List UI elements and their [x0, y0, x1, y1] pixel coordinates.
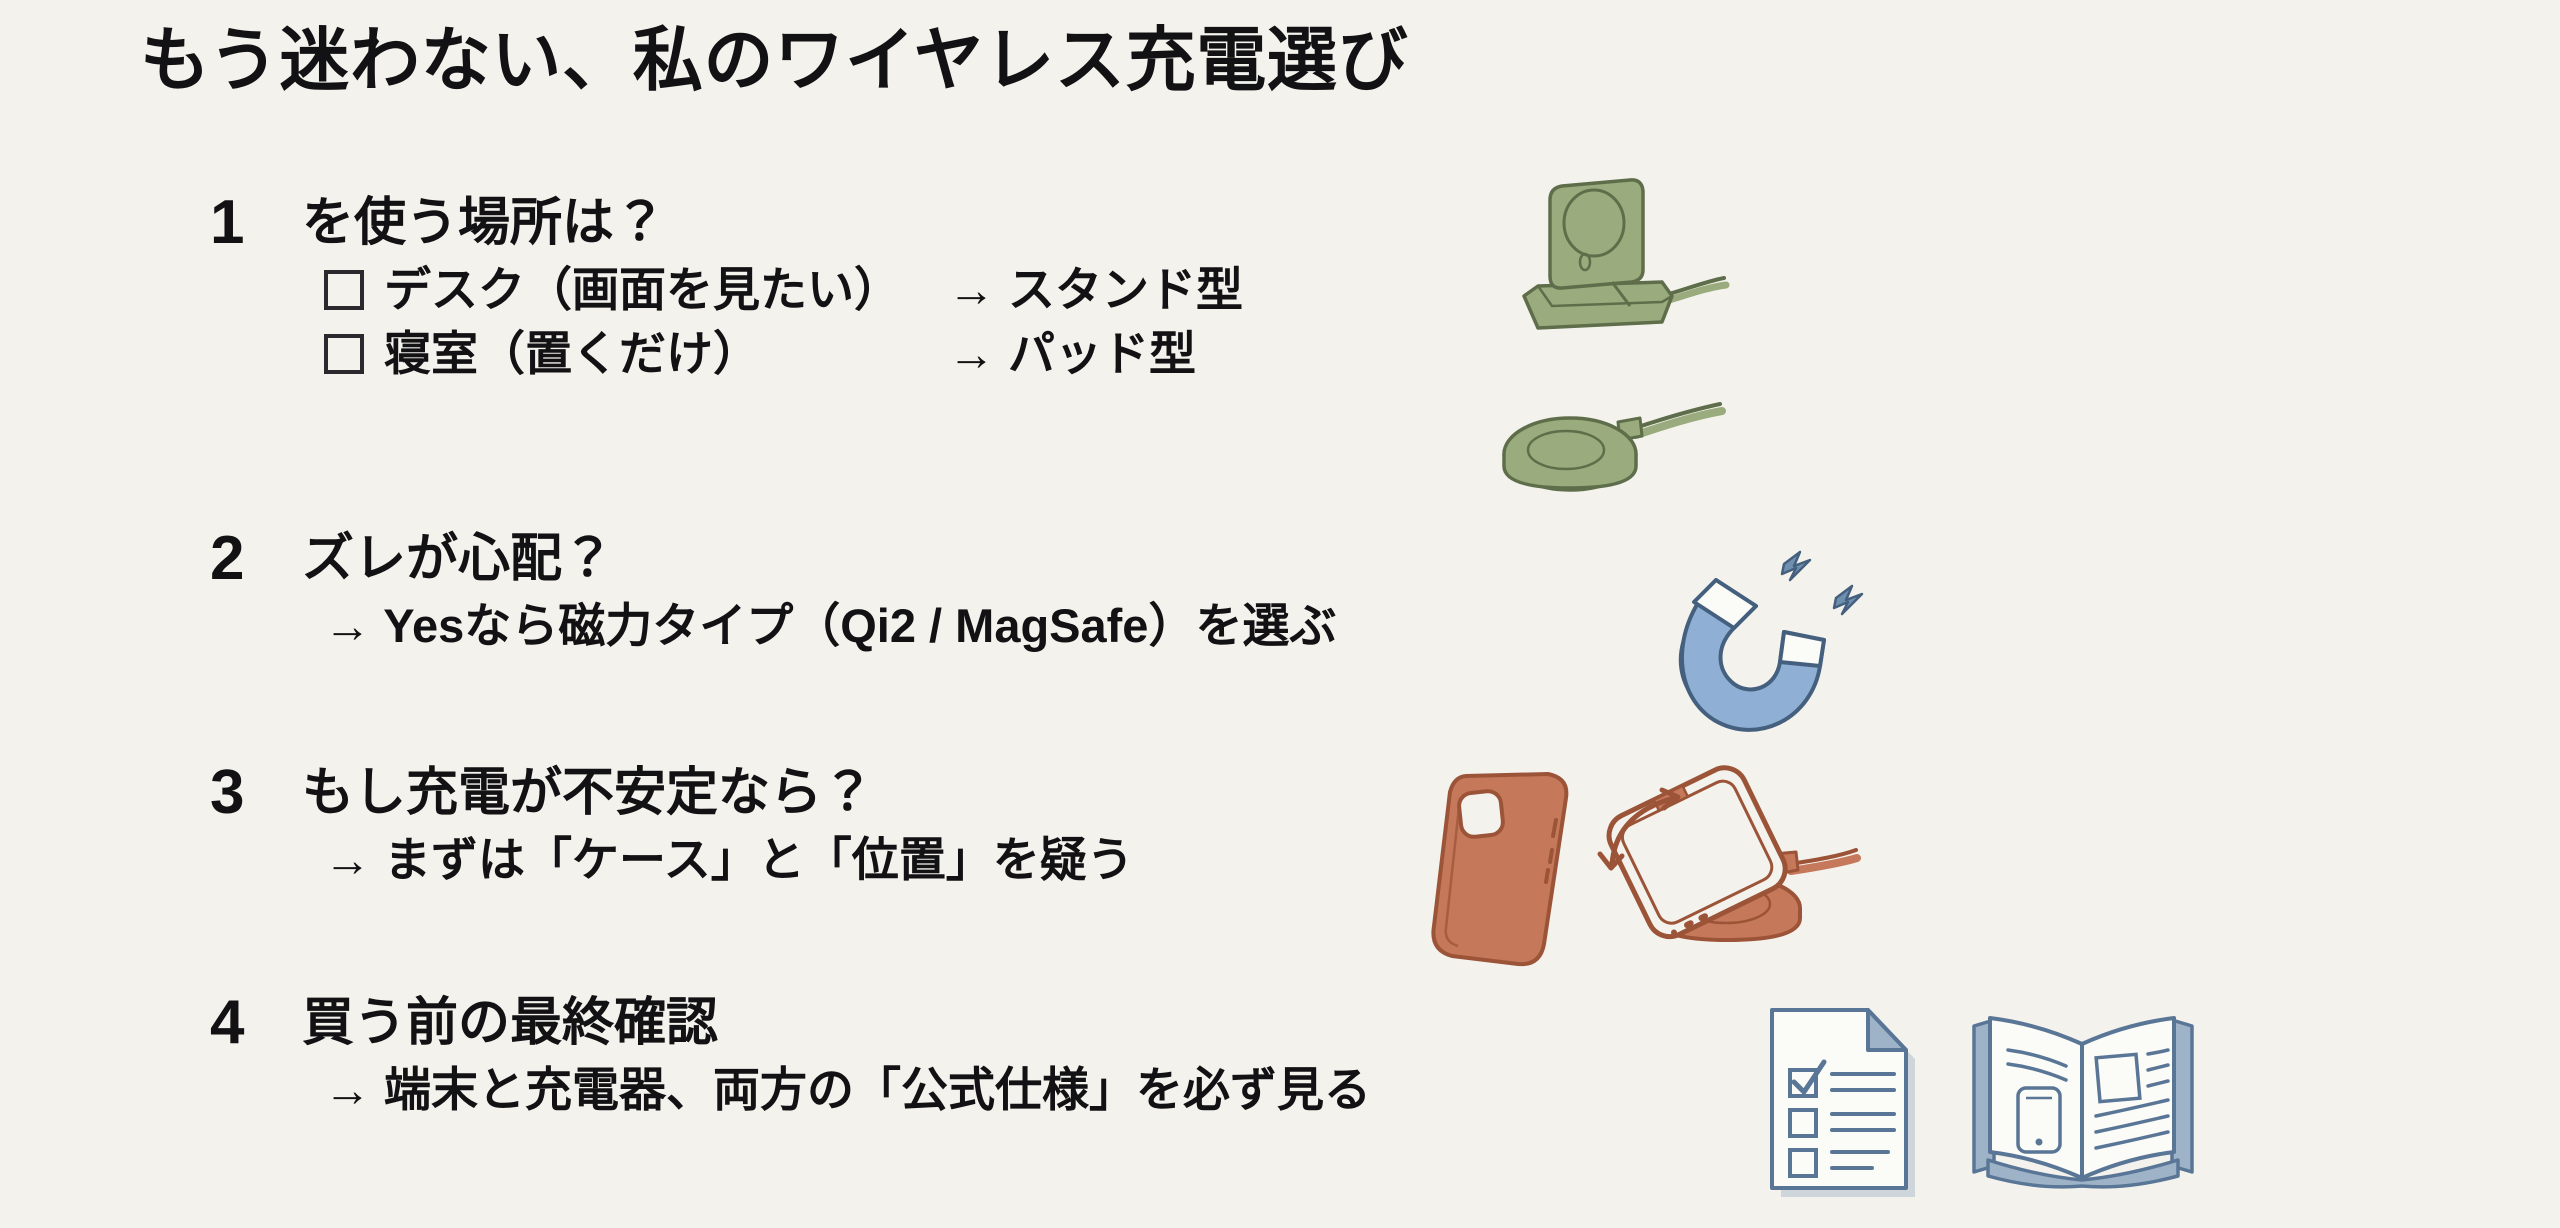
slide-canvas: もう迷わない、私のワイヤレス充電選び 1 を使う場所は？ デスク（画面を見たい）… — [0, 0, 2560, 1228]
item-heading-4: 買う前の最終確認 — [302, 994, 1371, 1054]
magnet-icon — [1672, 548, 1872, 728]
checkbox-bedroom[interactable] — [324, 334, 364, 374]
checkbox-desk-result: → スタンド型 — [948, 262, 1243, 318]
item-number-3: 3 — [210, 762, 302, 824]
item-3-answer-line: → まずは「ケース」と「位置」を疑う — [302, 832, 1134, 888]
item-body-4: 買う前の最終確認 → 端末と充電器、両方の「公式仕様」を必ず見る — [302, 992, 1371, 1118]
item-body-2: ズレが心配？ → Yesなら磁力タイプ（Qi2 / MagSafe）を選ぶ — [302, 528, 1336, 654]
phone-on-charger-adjust-icon — [1578, 768, 1858, 968]
item-number-4: 4 — [210, 992, 302, 1054]
item-number-1: 1 — [210, 192, 302, 254]
list-item-2: 2 ズレが心配？ → Yesなら磁力タイプ（Qi2 / MagSafe）を選ぶ — [210, 528, 1336, 654]
wireless-charging-pad-icon — [1500, 392, 1730, 512]
checkbox-bedroom-result: → パッド型 — [948, 326, 1196, 382]
spacer-desk — [901, 262, 948, 318]
checkbox-desk[interactable] — [324, 270, 364, 310]
wireless-charging-stand-icon — [1512, 178, 1742, 358]
phone-case-icon — [1432, 768, 1572, 968]
item-heading-1: を使う場所は？ — [302, 194, 1243, 254]
open-manual-book-icon — [1968, 1000, 2198, 1190]
item-heading-2: ズレが心配？ — [302, 530, 1336, 590]
item-2-answer-line: → Yesなら磁力タイプ（Qi2 / MagSafe）を選ぶ — [302, 598, 1336, 654]
item-number-2: 2 — [210, 528, 302, 590]
slide-title: もう迷わない、私のワイヤレス充電選び — [140, 22, 1408, 99]
checkbox-row-bedroom[interactable]: 寝室（置くだけ） → パッド型 — [302, 326, 1243, 382]
checklist-document-icon — [1760, 1000, 1920, 1200]
item-body-1: を使う場所は？ デスク（画面を見たい） → スタンド型 寝室（置くだけ） → パ… — [302, 192, 1243, 383]
checkbox-desk-label: デスク（画面を見たい） — [384, 262, 901, 318]
checkbox-row-desk[interactable]: デスク（画面を見たい） → スタンド型 — [302, 262, 1243, 318]
spacer-bedroom — [760, 326, 948, 382]
item-4-answer-line: → 端末と充電器、両方の「公式仕様」を必ず見る — [302, 1062, 1371, 1118]
list-item-1: 1 を使う場所は？ デスク（画面を見たい） → スタンド型 寝室（置くだけ） →… — [210, 192, 1243, 383]
item-body-3: もし充電が不安定なら？ → まずは「ケース」と「位置」を疑う — [302, 762, 1134, 888]
checkbox-bedroom-label: 寝室（置くだけ） — [384, 326, 760, 382]
item-heading-3: もし充電が不安定なら？ — [302, 764, 1134, 824]
list-item-4: 4 買う前の最終確認 → 端末と充電器、両方の「公式仕様」を必ず見る — [210, 992, 1371, 1118]
list-item-3: 3 もし充電が不安定なら？ → まずは「ケース」と「位置」を疑う — [210, 762, 1134, 888]
